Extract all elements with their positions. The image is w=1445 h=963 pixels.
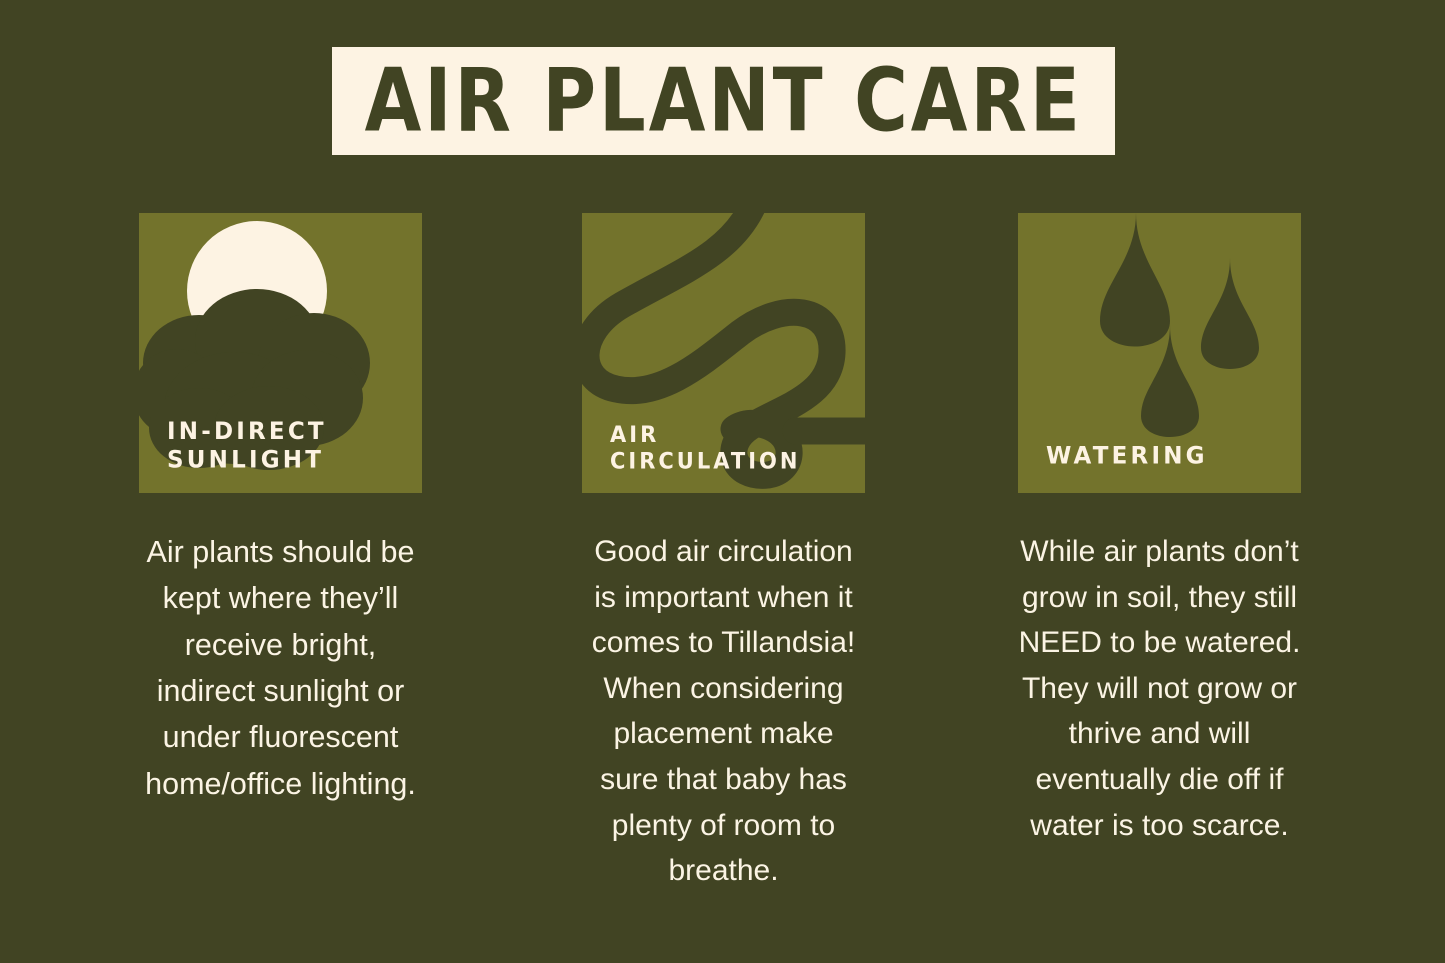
panel-label-watering: WATERING <box>1046 442 1208 471</box>
panel-label-circulation: AIR CIRCULATION <box>610 422 800 475</box>
icon-panel-sunlight: IN-DIRECT SUNLIGHT <box>139 213 422 493</box>
care-column-watering: WATERING While air plants don’t grow in … <box>1018 213 1301 848</box>
title-banner: AIR PLANT CARE <box>332 47 1115 155</box>
panel-label-sunlight: IN-DIRECT SUNLIGHT <box>167 417 327 475</box>
body-text-sunlight: Air plants should be kept where they’ll … <box>139 529 422 807</box>
icon-panel-circulation: AIR CIRCULATION <box>582 213 865 493</box>
page-title: AIR PLANT CARE <box>364 57 1082 144</box>
air-plant-care-poster: AIR PLANT CARE IN-DIRECT SUNLIGHT Air pl… <box>0 0 1445 963</box>
care-column-circulation: AIR CIRCULATION Good air circulation is … <box>582 213 865 894</box>
body-text-circulation: Good air circulation is important when i… <box>582 529 865 894</box>
care-column-sunlight: IN-DIRECT SUNLIGHT Air plants should be … <box>139 213 422 807</box>
body-text-watering: While air plants don’t grow in soil, the… <box>1018 529 1301 848</box>
icon-panel-watering: WATERING <box>1018 213 1301 493</box>
